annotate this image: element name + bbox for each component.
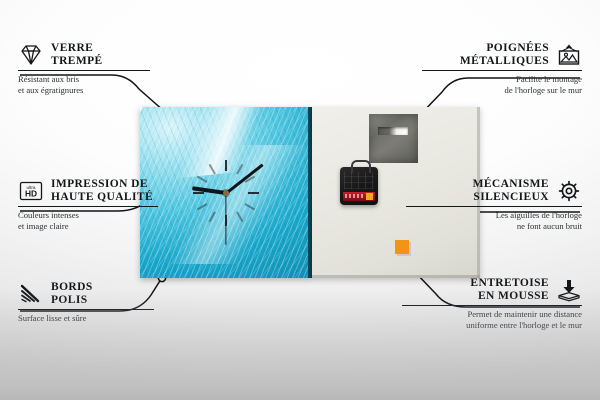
feature-subtitle: Couleurs intenses et image claire (18, 210, 158, 231)
clock-center-cap (223, 190, 229, 196)
ultra-hd-icon-main-text: HD (25, 188, 37, 198)
feature-subtitle: Surface lisse et sûre (18, 313, 154, 324)
diamond-icon (18, 43, 44, 67)
feature-title-line1: POIGNÉES (460, 42, 549, 55)
feature-impression-hd: ultra HD IMPRESSION DE HAUTE QUALITÉ Cou… (18, 178, 158, 232)
ultra-hd-icon: ultra HD (18, 179, 44, 203)
feature-sub-line2: et aux égratignures (18, 85, 150, 96)
battery (343, 192, 375, 201)
feature-verre-trempe: VERRE TREMPÉ Résistant aux bris et aux é… (18, 42, 150, 96)
battery-label (345, 194, 365, 198)
feature-title-line2: SILENCIEUX (473, 191, 549, 204)
feature-divider (406, 206, 582, 207)
feature-bords-polis: BORDS POLIS Surface lisse et sûre (18, 281, 154, 324)
feature-title: IMPRESSION DE HAUTE QUALITÉ (51, 178, 153, 203)
feature-header: ENTRETOISE EN MOUSSE (402, 277, 582, 302)
feature-title: POIGNÉES MÉTALLIQUES (460, 42, 549, 67)
feature-sub-line1: Couleurs intenses (18, 210, 158, 221)
feature-divider (18, 309, 154, 310)
feature-title-line2: TREMPÉ (51, 55, 103, 68)
framed-picture-hanging-icon (556, 43, 582, 67)
feature-header: VERRE TREMPÉ (18, 42, 150, 67)
feature-sub-line1: Surface lisse et sûre (18, 313, 154, 324)
feature-subtitle: Facilite le montage de l'horloge sur le … (422, 74, 582, 95)
polished-edges-icon (18, 282, 44, 306)
mechanism-housing-detail (344, 172, 374, 189)
clock-front-panel (140, 107, 312, 278)
feature-divider (18, 206, 158, 207)
feature-title-line1: VERRE (51, 42, 103, 55)
feature-sub-line1: Permet de maintenir une distance (402, 309, 582, 320)
feature-sub-line2: de l'horloge sur le mur (422, 85, 582, 96)
foam-spacer-arrow-icon (556, 278, 582, 302)
feature-header: ultra HD IMPRESSION DE HAUTE QUALITÉ (18, 178, 158, 203)
feature-poignees-metalliques: POIGNÉES MÉTALLIQUES Facilite le montage… (422, 42, 582, 96)
clock-mechanism (340, 167, 378, 205)
feature-title-line1: MÉCANISME (473, 178, 549, 191)
feature-sub-line2: uniforme entre l'horloge et le mur (402, 320, 582, 331)
hanger-slot (378, 127, 408, 135)
feature-entretoise-mousse: ENTRETOISE EN MOUSSE Permet de maintenir… (402, 277, 582, 331)
feature-title-line2: POLIS (51, 294, 93, 307)
feature-title-line2: EN MOUSSE (470, 290, 549, 303)
feature-title: ENTRETOISE EN MOUSSE (470, 277, 549, 302)
feature-header: BORDS POLIS (18, 281, 154, 306)
feature-sub-line2: ne font aucun bruit (406, 221, 582, 232)
feature-divider (18, 70, 150, 71)
foam-spacer (395, 240, 409, 254)
feature-title: VERRE TREMPÉ (51, 42, 103, 67)
feature-divider (422, 70, 582, 71)
feature-sub-line1: Les aiguilles de l'horloge (406, 210, 582, 221)
battery-positive-terminal (366, 193, 373, 200)
feature-title-line2: MÉTALLIQUES (460, 55, 549, 68)
infographic-canvas: VERRE TREMPÉ Résistant aux bris et aux é… (0, 0, 600, 400)
feature-title-line2: HAUTE QUALITÉ (51, 191, 153, 204)
feature-sub-line1: Résistant aux bris (18, 74, 150, 85)
feature-divider (402, 305, 582, 306)
feature-title-line1: ENTRETOISE (470, 277, 549, 290)
feature-subtitle: Résistant aux bris et aux égratignures (18, 74, 150, 95)
metal-hanger-plate (369, 114, 418, 163)
feature-subtitle: Permet de maintenir une distance uniform… (402, 309, 582, 330)
feature-title: BORDS POLIS (51, 281, 93, 306)
feature-title-line1: BORDS (51, 281, 93, 294)
feature-header: MÉCANISME SILENCIEUX (406, 178, 582, 203)
gear-icon (556, 179, 582, 203)
feature-sub-line1: Facilite le montage (422, 74, 582, 85)
feature-title: MÉCANISME SILENCIEUX (473, 178, 549, 203)
feature-mecanisme-silencieux: MÉCANISME SILENCIEUX Les aiguilles de l'… (406, 178, 582, 232)
feature-header: POIGNÉES MÉTALLIQUES (422, 42, 582, 67)
feature-sub-line2: et image claire (18, 221, 158, 232)
feature-subtitle: Les aiguilles de l'horloge ne font aucun… (406, 210, 582, 231)
feature-title-line1: IMPRESSION DE (51, 178, 153, 191)
